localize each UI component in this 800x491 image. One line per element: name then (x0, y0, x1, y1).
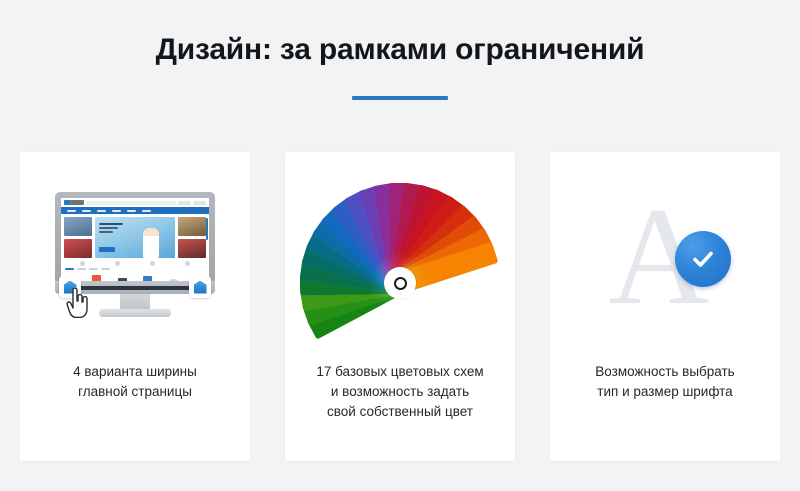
feature-icon (185, 261, 190, 266)
color-fan-icon (300, 187, 500, 337)
desktop-monitor-icon (47, 192, 223, 326)
letter-a-check-icon: A (575, 185, 755, 335)
website-nav-bar (61, 207, 209, 214)
monitor-stand (99, 309, 171, 317)
website-feature-icons (61, 261, 209, 268)
website-right-thumbs (178, 217, 206, 258)
drag-handle-icon (194, 281, 207, 294)
hero-cta-button (99, 247, 115, 252)
hero-person-photo (143, 228, 159, 258)
nav-item (67, 210, 76, 212)
nav-item (112, 210, 121, 212)
nav-item (97, 210, 106, 212)
card-visual-typography: A (550, 152, 780, 362)
feature-card-color-schemes[interactable]: 17 базовых цветовых схем и возможность з… (285, 152, 515, 461)
checkmark-icon (688, 244, 718, 274)
card-caption-color-schemes: 17 базовых цветовых схем и возможность з… (298, 362, 501, 422)
website-product-row (61, 271, 209, 281)
hand-cursor-icon (65, 288, 89, 318)
card-visual-monitor (20, 152, 250, 362)
feature-icon (150, 261, 155, 266)
hero-text-lines (99, 223, 123, 235)
feature-icon (80, 261, 85, 266)
feature-icon (115, 261, 120, 266)
website-topbar (61, 198, 209, 207)
website-logo (64, 200, 84, 205)
website-left-thumbs (64, 217, 92, 258)
website-body (61, 214, 209, 261)
thumbnail-image (178, 239, 206, 258)
card-caption-width-options: 4 варианта ширины главной страницы (55, 362, 215, 402)
website-hero-banner (95, 217, 175, 258)
feature-card-width-options[interactable]: 4 варианта ширины главной страницы (20, 152, 250, 461)
nav-item (127, 210, 136, 212)
check-badge (675, 231, 731, 287)
website-account-chip (178, 201, 191, 205)
monitor-neck (120, 294, 150, 310)
nav-item (142, 210, 151, 212)
feature-cards-row: 4 варианта ширины главной страницы 17 ба… (20, 152, 780, 461)
thumbnail-image (64, 217, 92, 236)
width-resize-track[interactable] (71, 286, 199, 290)
website-cart-chip (193, 201, 206, 205)
thumbnail-image (64, 239, 92, 258)
website-scrollbar[interactable] (206, 218, 208, 240)
thumbnail-image (178, 217, 206, 236)
width-drag-handle-right[interactable] (189, 276, 211, 298)
fan-pivot-rivet (384, 267, 416, 299)
page-header: Дизайн: за рамками ограничений (0, 0, 800, 100)
title-underline-accent (352, 96, 448, 100)
monitor-screen (61, 198, 209, 281)
feature-card-typography[interactable]: A Возможность выбрать тип и размер шрифт… (550, 152, 780, 461)
page-title: Дизайн: за рамками ограничений (0, 32, 800, 68)
website-search-bar (86, 201, 176, 205)
card-visual-color-fan (285, 152, 515, 362)
nav-item (82, 210, 91, 212)
card-caption-typography: Возможность выбрать тип и размер шрифта (577, 362, 752, 402)
